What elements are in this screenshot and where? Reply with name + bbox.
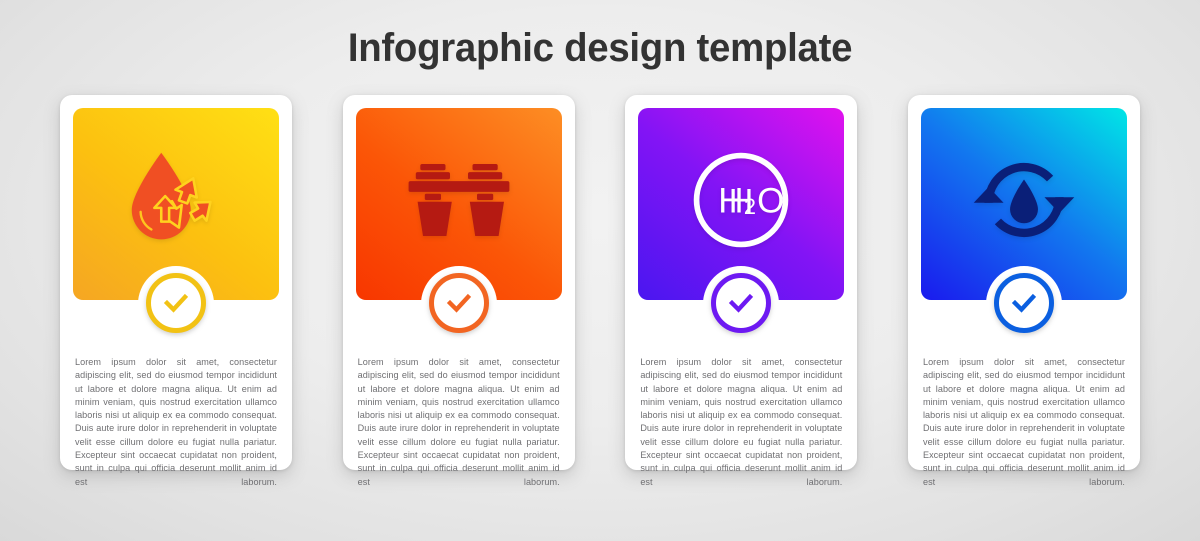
card-1-body-text: Lorem ipsum dolor sit amet, consectetur … — [73, 356, 279, 502]
card-2-icon-tile — [356, 108, 562, 300]
card-1-icon-tile — [73, 108, 279, 300]
card-1-check-badge[interactable] — [146, 273, 206, 333]
card-2-check-badge[interactable] — [429, 273, 489, 333]
infographic-card-1[interactable]: Lorem ipsum dolor sit amet, consectetur … — [60, 95, 292, 470]
infographic-card-3[interactable]: H . H 2 O Lorem ipsum dolor sit amet, co… — [625, 95, 857, 470]
svg-text:O: O — [757, 181, 784, 220]
page-title: Infographic design template — [24, 26, 1176, 71]
card-4-icon-tile — [921, 108, 1127, 300]
svg-text:2: 2 — [744, 194, 756, 219]
infographic-card-row: Lorem ipsum dolor sit amet, consectetur … — [60, 95, 1140, 470]
card-2-body-text: Lorem ipsum dolor sit amet, consectetur … — [356, 356, 562, 502]
card-3-check-badge[interactable] — [711, 273, 771, 333]
infographic-card-4[interactable]: Lorem ipsum dolor sit amet, consectetur … — [908, 95, 1140, 470]
card-4-check-badge[interactable] — [994, 273, 1054, 333]
card-4-body-text: Lorem ipsum dolor sit amet, consectetur … — [921, 356, 1127, 502]
svg-text:H: H — [719, 181, 744, 220]
card-3-body-text: Lorem ipsum dolor sit amet, consectetur … — [638, 356, 844, 502]
infographic-card-2[interactable]: Lorem ipsum dolor sit amet, consectetur … — [343, 95, 575, 470]
card-3-icon-tile: H . H 2 O — [638, 108, 844, 300]
